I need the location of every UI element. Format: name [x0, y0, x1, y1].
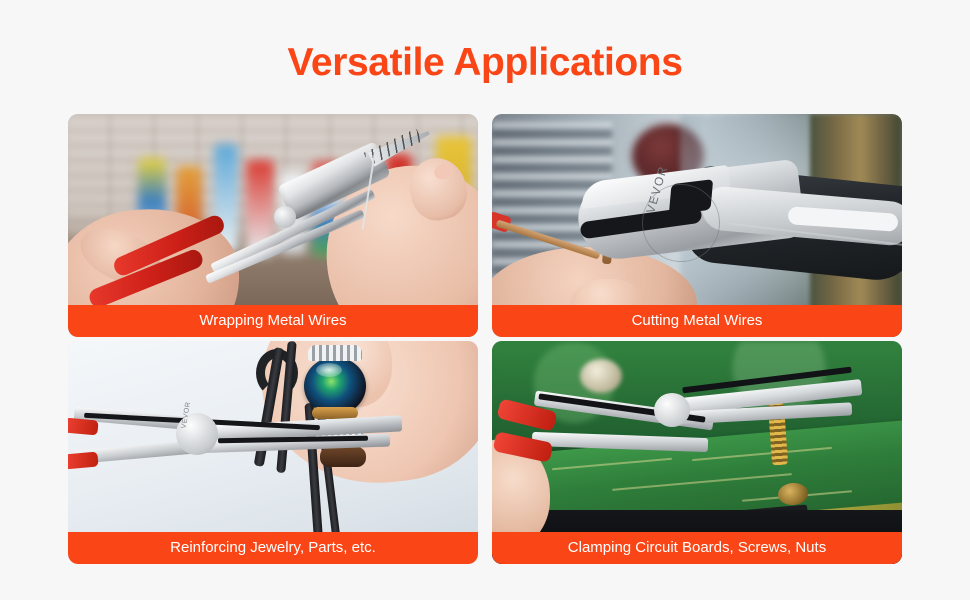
applications-grid: Wrapping Metal Wires VEVOR Cutting Me: [68, 114, 902, 564]
application-caption: Wrapping Metal Wires: [68, 305, 478, 337]
photo-reinforcing-jewelry: VEVOR: [68, 341, 478, 564]
application-caption: Cutting Metal Wires: [492, 305, 902, 337]
application-caption: Reinforcing Jewelry, Parts, etc.: [68, 532, 478, 564]
application-card-clamping-circuit-boards[interactable]: Clamping Circuit Boards, Screws, Nuts: [492, 341, 902, 564]
application-card-cutting-metal-wires[interactable]: VEVOR Cutting Metal Wires: [492, 114, 902, 337]
application-caption: Clamping Circuit Boards, Screws, Nuts: [492, 532, 902, 564]
application-card-reinforcing-jewelry-parts[interactable]: VEVOR Reinforcing Jewelry, Parts, etc.: [68, 341, 478, 564]
photo-wrapping-metal-wires: [68, 114, 478, 337]
application-card-wrapping-metal-wires[interactable]: Wrapping Metal Wires: [68, 114, 478, 337]
photo-cutting-metal-wires: VEVOR: [492, 114, 902, 337]
page-title: Versatile Applications: [0, 40, 970, 86]
photo-clamping-circuit-boards: [492, 341, 902, 564]
